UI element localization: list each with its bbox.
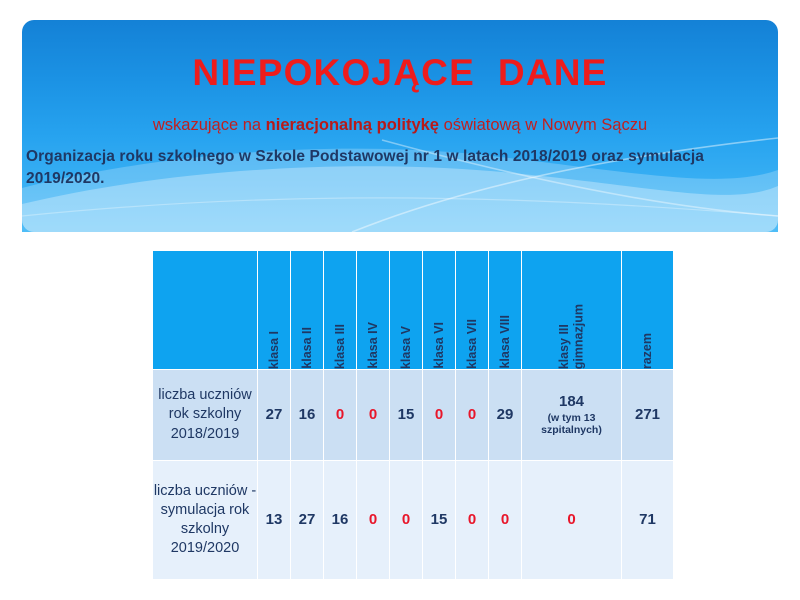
column-header-8: klasa VIII — [489, 251, 522, 370]
cell-value: 184 — [559, 393, 584, 410]
column-header-label: klasa IV — [366, 314, 380, 369]
cell-value: 0 — [336, 406, 344, 423]
column-header-label: klasa VI — [432, 314, 446, 369]
column-header-label: klasa VIII — [498, 307, 512, 369]
column-header-label: klasy III gimnazjum — [557, 296, 586, 369]
column-header-rotated-wrap: klasa V — [390, 251, 422, 369]
column-header-label: razem — [640, 325, 654, 369]
cell-value: 0 — [468, 406, 476, 423]
column-header-4: klasa IV — [357, 251, 390, 370]
data-cell-r1-c10: 271 — [622, 370, 674, 461]
column-header-9: klasy III gimnazjum — [522, 251, 622, 370]
data-cell-r2-c2: 27 — [291, 461, 324, 580]
table-header: klasa Iklasa IIklasa IIIklasa IVklasa Vk… — [153, 251, 674, 370]
subtitle-text-tail: oświatową w Nowym Sączu — [439, 116, 647, 134]
cell-value: 13 — [266, 511, 283, 528]
data-cell-r1-c1: 27 — [258, 370, 291, 461]
cell-value: 0 — [468, 511, 476, 528]
column-header-7: klasa VII — [456, 251, 489, 370]
subtitle-text-lead: wskazujące na — [153, 116, 266, 134]
cell-value: 27 — [299, 511, 316, 528]
column-header-rotated-wrap: klasa I — [258, 251, 290, 369]
column-header-rotated-wrap: klasa VIII — [489, 251, 521, 369]
row-label: liczba uczniów rok szkolny 2018/2019 — [153, 370, 258, 461]
header-banner: NIEPOKOJĄCE DANE wskazujące na nieracjon… — [22, 20, 778, 232]
data-cell-r2-c5: 0 — [390, 461, 423, 580]
data-cell-r1-c2: 16 — [291, 370, 324, 461]
page-title: NIEPOKOJĄCE DANE — [22, 54, 778, 93]
column-header-label: klasa VII — [465, 311, 479, 369]
cell-value: 0 — [369, 511, 377, 528]
column-header-rotated-wrap: klasa II — [291, 251, 323, 369]
cell-value: 0 — [369, 406, 377, 423]
cell-value: 29 — [497, 406, 514, 423]
column-header-rotated-wrap: klasa III — [324, 251, 356, 369]
row-label: liczba uczniów - symulacja rok szkolny 2… — [153, 461, 258, 580]
table-corner-cell — [153, 251, 258, 370]
data-cell-r2-c6: 15 — [423, 461, 456, 580]
data-cell-r2-c3: 16 — [324, 461, 357, 580]
column-header-6: klasa VI — [423, 251, 456, 370]
column-header-rotated-wrap: klasa VII — [456, 251, 488, 369]
column-header-2: klasa II — [291, 251, 324, 370]
cell-value: 27 — [266, 406, 283, 423]
data-cell-r1-c8: 29 — [489, 370, 522, 461]
data-cell-r1-c5: 15 — [390, 370, 423, 461]
column-header-1: klasa I — [258, 251, 291, 370]
column-header-rotated-wrap: razem — [622, 251, 673, 369]
column-header-label: klasa I — [267, 323, 281, 369]
cell-value: 15 — [431, 511, 448, 528]
data-cell-r1-c4: 0 — [357, 370, 390, 461]
table-row: liczba uczniów - symulacja rok szkolny 2… — [153, 461, 674, 580]
cell-value: 15 — [398, 406, 415, 423]
column-header-label: klasa II — [300, 319, 314, 369]
table-body: liczba uczniów rok szkolny 2018/20192716… — [153, 370, 674, 580]
data-table-container: klasa Iklasa IIklasa IIIklasa IVklasa Vk… — [152, 250, 674, 580]
cell-value: 71 — [639, 511, 656, 528]
column-header-rotated-wrap: klasa IV — [357, 251, 389, 369]
data-cell-r1-c3: 0 — [324, 370, 357, 461]
cell-note: (w tym 13 szpitalnych) — [522, 412, 621, 437]
data-cell-r1-c7: 0 — [456, 370, 489, 461]
lead-paragraph: Organizacja roku szkolnego w Szkole Pods… — [26, 146, 726, 191]
data-cell-r2-c10: 71 — [622, 461, 674, 580]
subtitle-text-emphasis: nieracjonalną politykę — [266, 116, 439, 134]
column-header-10: razem — [622, 251, 674, 370]
cell-value: 0 — [501, 511, 509, 528]
data-cell-r2-c9: 0 — [522, 461, 622, 580]
column-header-rotated-wrap: klasy III gimnazjum — [522, 251, 621, 369]
cell-value: 271 — [635, 406, 660, 423]
table-header-row: klasa Iklasa IIklasa IIIklasa IVklasa Vk… — [153, 251, 674, 370]
column-header-label: klasa III — [333, 316, 347, 369]
data-cell-r2-c4: 0 — [357, 461, 390, 580]
page-subtitle: wskazujące na nieracjonalną politykę ośw… — [22, 116, 778, 136]
data-cell-r2-c8: 0 — [489, 461, 522, 580]
data-cell-r1-c9: 184(w tym 13 szpitalnych) — [522, 370, 622, 461]
cell-value: 0 — [402, 511, 410, 528]
column-header-3: klasa III — [324, 251, 357, 370]
data-cell-r2-c7: 0 — [456, 461, 489, 580]
cell-value: 0 — [435, 406, 443, 423]
cell-value: 16 — [332, 511, 349, 528]
data-cell-r2-c1: 13 — [258, 461, 291, 580]
column-header-rotated-wrap: klasa VI — [423, 251, 455, 369]
table-row: liczba uczniów rok szkolny 2018/20192716… — [153, 370, 674, 461]
cell-value: 16 — [299, 406, 316, 423]
cell-value: 0 — [567, 511, 575, 528]
column-header-label: klasa V — [399, 318, 413, 369]
data-cell-r1-c6: 0 — [423, 370, 456, 461]
column-header-5: klasa V — [390, 251, 423, 370]
enrollment-table: klasa Iklasa IIklasa IIIklasa IVklasa Vk… — [152, 250, 674, 580]
